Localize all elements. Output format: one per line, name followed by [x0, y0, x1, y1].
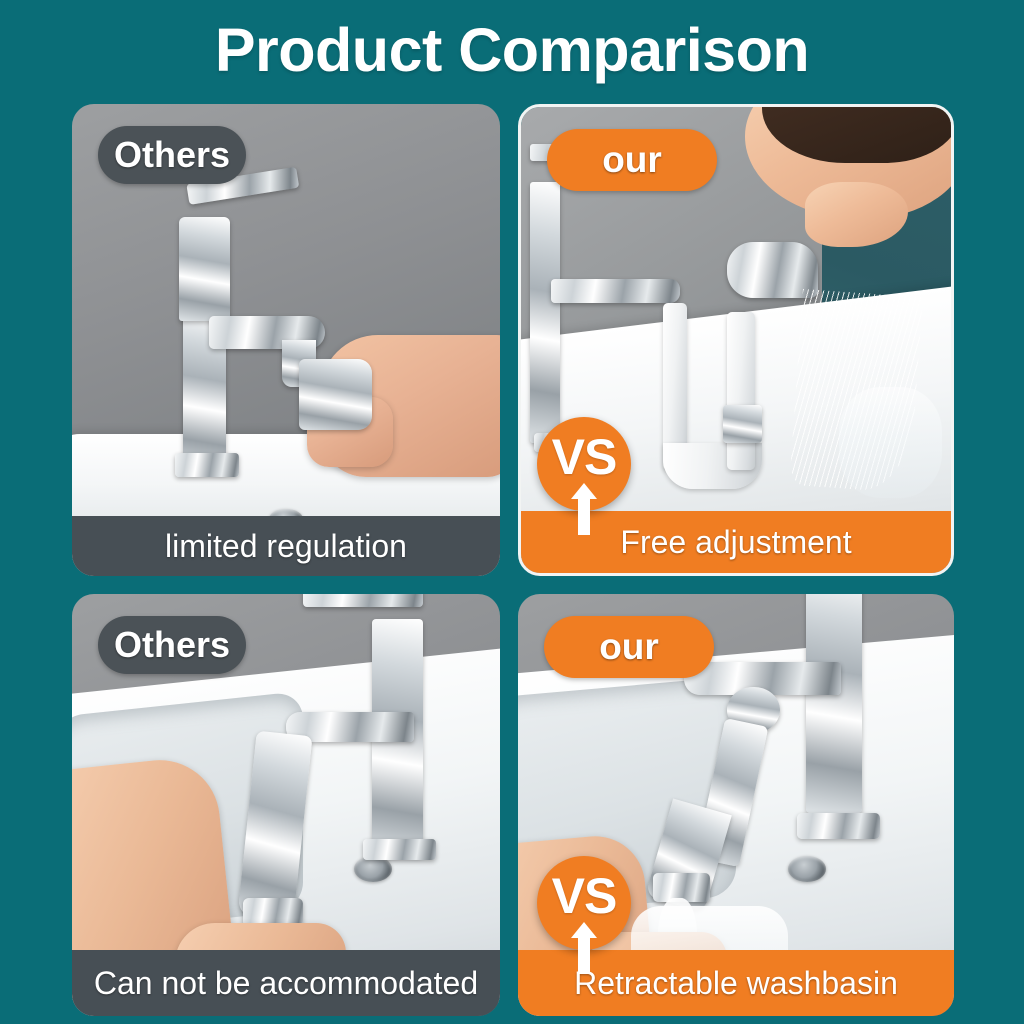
caption-bar: Can not be accommodated	[72, 950, 500, 1016]
page-title: Product Comparison	[215, 20, 809, 81]
badge-others: Others	[98, 126, 246, 184]
caption-text: Retractable washbasin	[574, 965, 898, 1002]
vs-badge-top: VS	[537, 417, 631, 511]
caption-bar: limited regulation	[72, 516, 500, 576]
badge-label: Others	[114, 134, 230, 176]
sprayer-attachment	[299, 359, 372, 430]
drain-icon	[788, 856, 826, 882]
caption-text: Free adjustment	[620, 524, 851, 561]
faucet-base	[363, 839, 436, 860]
vs-label: VS	[552, 871, 617, 921]
vs-badge-bottom: VS	[537, 856, 631, 950]
badge-others: Others	[98, 616, 246, 674]
badge-label: our	[599, 626, 659, 668]
faucet-base	[797, 813, 880, 838]
badge-our: our	[547, 129, 717, 191]
faucet-column	[530, 182, 560, 443]
up-arrow-icon	[571, 483, 597, 535]
faucet-spout	[551, 279, 680, 302]
faucet-handle	[303, 594, 423, 607]
badge-label: our	[602, 139, 662, 181]
badge-label: Others	[114, 624, 230, 666]
faucet-base	[175, 453, 239, 477]
water-pool	[839, 387, 942, 499]
panel-bottom-left[interactable]: Others Can not be accommodated	[72, 594, 500, 1016]
comparison-grid: Others limited regulation	[72, 104, 954, 1016]
badge-our: our	[544, 616, 714, 678]
caption-text: limited regulation	[165, 528, 407, 565]
up-arrow-icon	[571, 922, 597, 974]
flex-hose-riser	[727, 312, 755, 470]
faucet-column	[806, 594, 863, 813]
vs-label: VS	[552, 432, 617, 482]
faucet-neck	[179, 217, 230, 321]
caption-text: Can not be accommodated	[94, 965, 478, 1002]
panel-top-left[interactable]: Others limited regulation	[72, 104, 500, 576]
page-header: Product Comparison	[0, 0, 1024, 100]
hose-collar	[723, 405, 762, 442]
